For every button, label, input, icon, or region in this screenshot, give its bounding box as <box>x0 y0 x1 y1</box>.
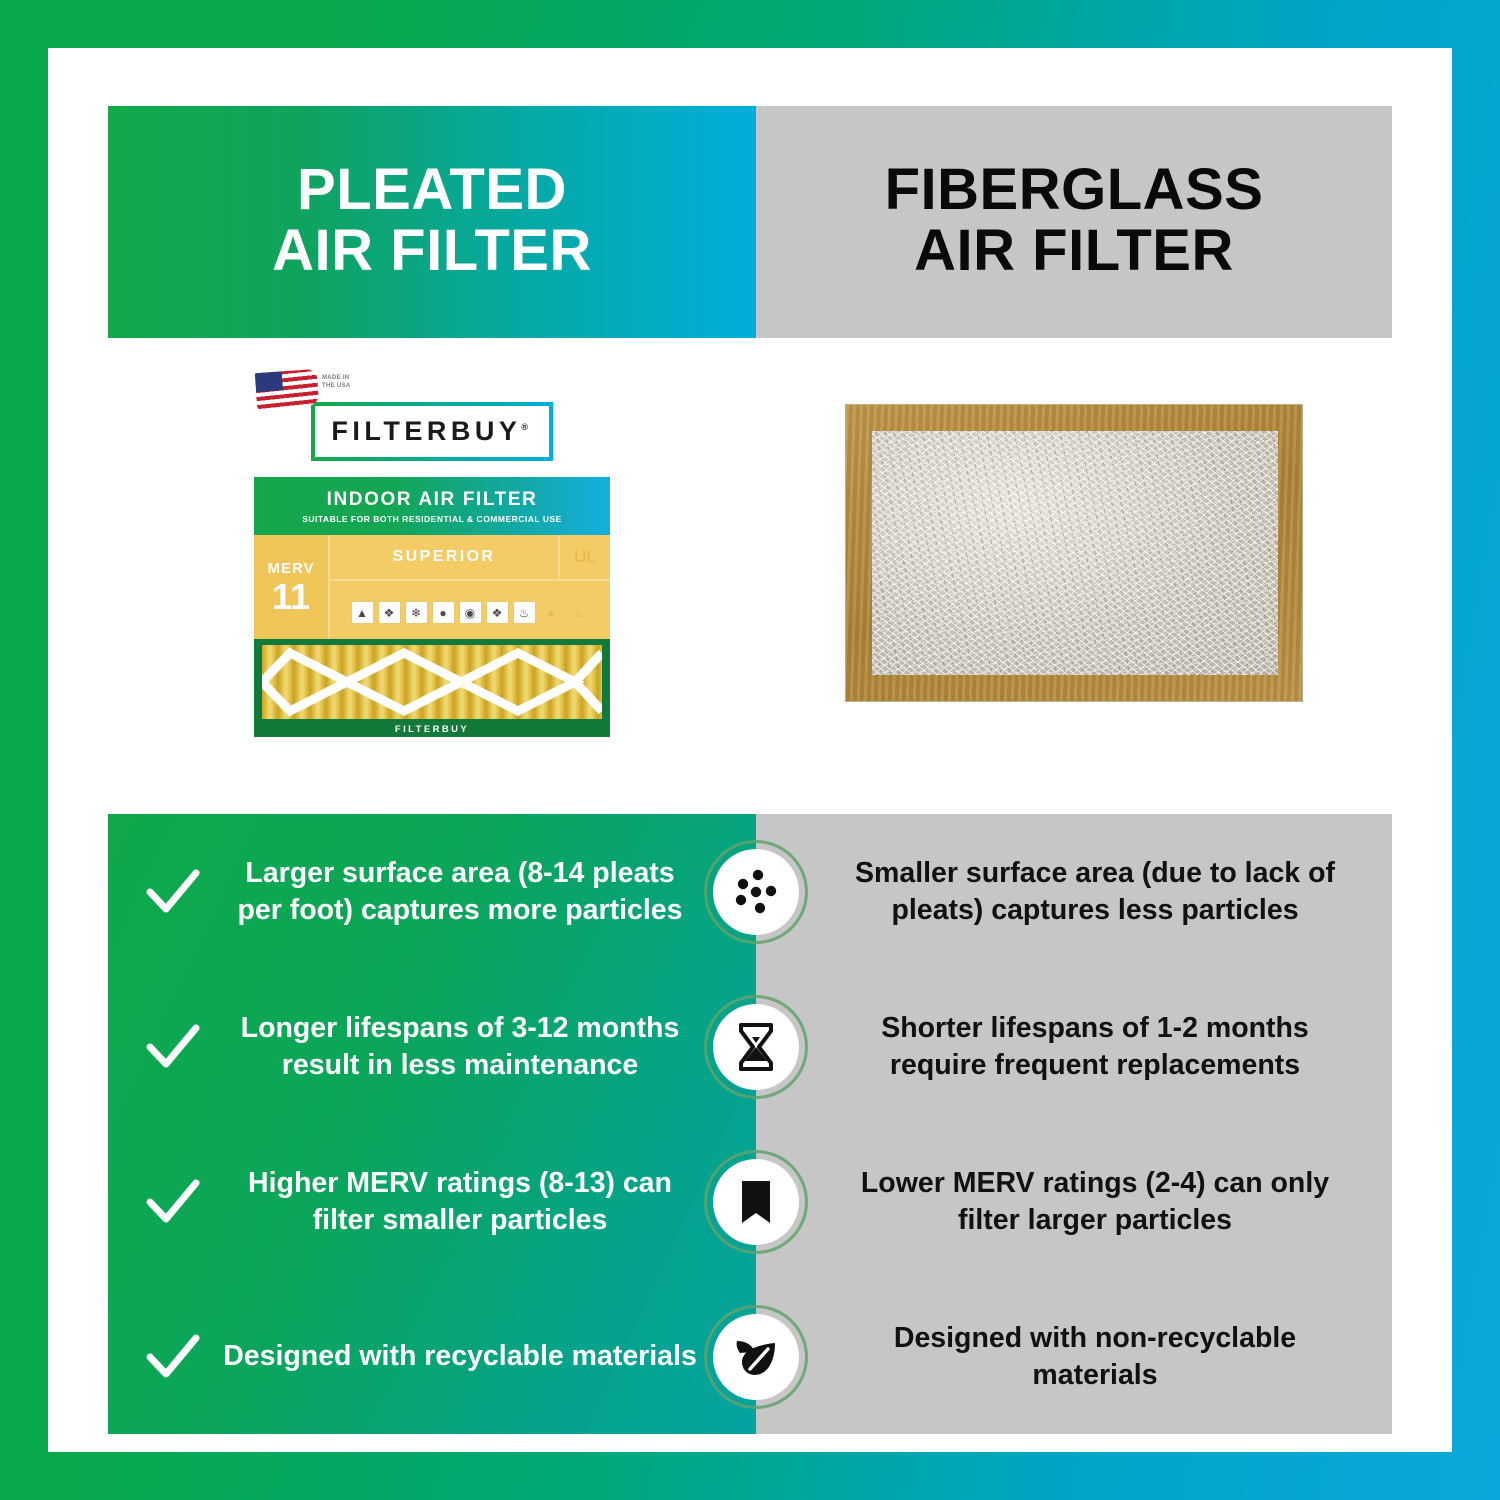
insect-icon: ❖ <box>378 601 401 624</box>
pollen-icon: ❄ <box>405 601 428 624</box>
row-right-text: Shorter lifespans of 1-2 months require … <box>756 1010 1392 1083</box>
comparison-rows: Larger surface area (8-14 pleats per foo… <box>108 814 1392 1434</box>
row-left-cell: Designed with recyclable materials <box>108 1328 756 1386</box>
product-image-strip: MADE IN THE USA FILTERBUY® INDOOR AIR FI… <box>108 338 1392 768</box>
row-left-text: Designed with recyclable materials <box>220 1338 700 1374</box>
bookmark-icon <box>704 1150 808 1254</box>
filterbuy-box-image: MADE IN THE USA FILTERBUY® INDOOR AIR FI… <box>254 369 610 737</box>
filterbuy-logo-frame: FILTERBUY® <box>311 402 552 461</box>
row-left-cell: Higher MERV ratings (8-13) can filter sm… <box>108 1165 756 1238</box>
row-right-text: Designed with non-recyclable materials <box>756 1320 1392 1393</box>
dust-icon: ▲ <box>351 601 374 624</box>
feature-icon-strip: ▲ ❖ ❄ ● ◉ ❖ ♨ ● ▵ <box>330 581 610 639</box>
row-left-cell: Longer lifespans of 3-12 months result i… <box>108 1010 756 1083</box>
header-fiberglass: FIBERGLASS AIR FILTER <box>756 106 1392 338</box>
row-left-text: Higher MERV ratings (8-13) can filter sm… <box>220 1165 700 1238</box>
pleated-product-cell: MADE IN THE USA FILTERBUY® INDOOR AIR FI… <box>108 338 756 768</box>
row-left-cell: Larger surface area (8-14 pleats per foo… <box>108 855 756 928</box>
checkmark-icon <box>144 863 202 921</box>
smoke-icon: ♨ <box>513 601 536 624</box>
bacteria-icon: ◉ <box>459 601 482 624</box>
header-pleated: PLEATED AIR FILTER <box>108 106 756 338</box>
band-subtitle: SUITABLE FOR BOTH RESIDENTIAL & COMMERCI… <box>302 514 562 524</box>
filterbuy-logo: FILTERBUY® <box>331 416 532 447</box>
row-left-text: Larger surface area (8-14 pleats per foo… <box>220 855 700 928</box>
comparison-row: Designed with recyclable materials Desig… <box>108 1279 1392 1434</box>
hourglass-icon <box>704 995 808 1099</box>
box-footer-brand: FILTERBUY <box>262 724 602 735</box>
checkmark-icon <box>144 1328 202 1386</box>
particles-icon <box>704 840 808 944</box>
row-left-text: Longer lifespans of 3-12 months result i… <box>220 1010 700 1083</box>
merv-value: 11 <box>272 579 310 615</box>
merv-panel: MERV 11 SUPERIOR UL ▲ ❖ ❄ <box>254 535 610 639</box>
pleated-title: PLEATED AIR FILTER <box>272 159 592 282</box>
outer-gradient-frame: PLEATED AIR FILTER FIBERGLASS AIR FILTER… <box>0 0 1500 1500</box>
leaf-icon <box>704 1305 808 1409</box>
row-right-text: Lower MERV ratings (2-4) can only filter… <box>756 1165 1392 1238</box>
registered-mark: ® <box>521 422 532 432</box>
indoor-air-filter-band: INDOOR AIR FILTER SUITABLE FOR BOTH RESI… <box>254 477 610 535</box>
particles-icon-glyph <box>713 849 799 935</box>
mold-icon: ● <box>432 601 455 624</box>
box-top-panel: MADE IN THE USA FILTERBUY® <box>254 369 610 477</box>
comparison-panel: Larger surface area (8-14 pleats per foo… <box>108 814 1392 1434</box>
comparison-row: Larger surface area (8-14 pleats per foo… <box>108 814 1392 969</box>
header-band: PLEATED AIR FILTER FIBERGLASS AIR FILTER <box>108 106 1392 338</box>
checkmark-icon <box>144 1173 202 1231</box>
band-title: INDOOR AIR FILTER <box>327 489 538 511</box>
merv-badge: MERV 11 <box>254 535 330 639</box>
checkmark-icon <box>144 1018 202 1076</box>
odor-icon: ● <box>540 601 563 624</box>
grade-label: SUPERIOR <box>330 548 558 566</box>
merv-label: MERV <box>267 560 314 577</box>
hourglass-icon-glyph <box>713 1004 799 1090</box>
bookmark-icon-glyph <box>713 1159 799 1245</box>
row-right-text: Smaller surface area (due to lack of ple… <box>756 855 1392 928</box>
filterbuy-wordmark: FILTERBUY <box>331 416 521 446</box>
made-in-usa-label: MADE IN THE USA <box>322 375 350 390</box>
merv-right-panel: SUPERIOR UL ▲ ❖ ❄ ● ◉ ❖ ♨ <box>330 535 610 639</box>
leaf-icon-glyph <box>713 1314 799 1400</box>
fiberglass-mesh <box>872 431 1278 675</box>
usa-flag-icon <box>255 369 319 411</box>
pleat-media-panel: FILTERBUY <box>254 639 610 737</box>
allergen-icon: ▵ <box>567 601 590 624</box>
content-card: PLEATED AIR FILTER FIBERGLASS AIR FILTER… <box>48 48 1452 1452</box>
fiberglass-filter-image <box>846 405 1302 701</box>
ul-certification-icon: UL <box>558 535 610 579</box>
gold-pleat-media <box>262 645 602 719</box>
pet-dander-icon: ❖ <box>486 601 509 624</box>
fiberglass-title: FIBERGLASS AIR FILTER <box>885 159 1264 282</box>
fiberglass-product-cell <box>756 338 1392 768</box>
grade-row: SUPERIOR UL <box>330 535 610 581</box>
support-wire-grid-icon <box>262 645 602 719</box>
comparison-row: Longer lifespans of 3-12 months result i… <box>108 969 1392 1124</box>
comparison-row: Higher MERV ratings (8-13) can filter sm… <box>108 1124 1392 1279</box>
